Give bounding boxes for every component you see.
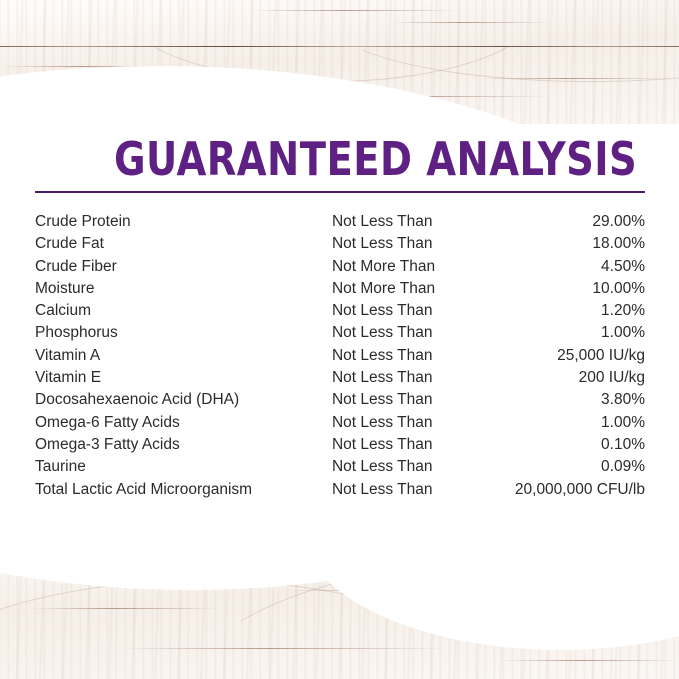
nutrient-qualifier: Not Less Than — [332, 367, 493, 389]
nutrient-value: 0.09% — [492, 456, 645, 478]
nutrient-qualifier: Not Less Than — [332, 389, 493, 411]
nutrient-name: Vitamin E — [35, 367, 332, 389]
nutrient-value: 10.00% — [492, 278, 645, 300]
nutrient-qualifier: Not Less Than — [332, 233, 493, 255]
nutrient-qualifier: Not Less Than — [332, 434, 493, 456]
table-row: Total Lactic Acid Microorganism Not Less… — [35, 479, 645, 501]
page-title: GUARANTEED ANALYSIS — [114, 134, 637, 184]
nutrient-value: 200 IU/kg — [492, 367, 645, 389]
title-divider-rule — [35, 191, 645, 193]
table-row: Crude Protein Not Less Than 29.00% — [35, 211, 645, 233]
nutrient-qualifier: Not Less Than — [332, 479, 493, 501]
nutrient-name: Total Lactic Acid Microorganism — [35, 479, 332, 501]
nutrient-qualifier: Not Less Than — [332, 345, 493, 367]
nutrient-value: 0.10% — [492, 434, 645, 456]
nutrient-qualifier: Not Less Than — [332, 412, 493, 434]
nutrient-qualifier: Not Less Than — [332, 456, 493, 478]
analysis-table-body: Crude Protein Not Less Than 29.00% Crude… — [35, 211, 645, 501]
nutrient-name: Taurine — [35, 456, 332, 478]
nutrient-value: 20,000,000 CFU/lb — [492, 479, 645, 501]
nutrient-value: 4.50% — [492, 256, 645, 278]
nutrient-value: 1.00% — [492, 322, 645, 344]
nutrient-qualifier: Not Less Than — [332, 211, 493, 233]
nutrient-qualifier: Not More Than — [332, 278, 493, 300]
nutrient-qualifier: Not Less Than — [332, 300, 493, 322]
nutrient-name: Crude Fiber — [35, 256, 332, 278]
nutrient-name: Vitamin A — [35, 345, 332, 367]
nutrient-qualifier: Not Less Than — [332, 322, 493, 344]
table-row: Vitamin E Not Less Than 200 IU/kg — [35, 367, 645, 389]
table-row: Moisture Not More Than 10.00% — [35, 278, 645, 300]
guaranteed-analysis-table: Crude Protein Not Less Than 29.00% Crude… — [35, 211, 645, 501]
nutrient-value: 1.00% — [492, 412, 645, 434]
nutrient-value: 18.00% — [492, 233, 645, 255]
nutrient-name: Calcium — [35, 300, 332, 322]
nutrient-name: Phosphorus — [35, 322, 332, 344]
nutrient-value: 29.00% — [492, 211, 645, 233]
table-row: Taurine Not Less Than 0.09% — [35, 456, 645, 478]
nutrient-value: 25,000 IU/kg — [492, 345, 645, 367]
nutrient-value: 3.80% — [492, 389, 645, 411]
analysis-content: GUARANTEED ANALYSIS Crude Protein Not Le… — [0, 0, 679, 679]
table-row: Omega-6 Fatty Acids Not Less Than 1.00% — [35, 412, 645, 434]
nutrient-name: Moisture — [35, 278, 332, 300]
nutrient-name: Crude Protein — [35, 211, 332, 233]
table-row: Omega-3 Fatty Acids Not Less Than 0.10% — [35, 434, 645, 456]
nutrient-qualifier: Not More Than — [332, 256, 493, 278]
nutrient-value: 1.20% — [492, 300, 645, 322]
table-row: Docosahexaenoic Acid (DHA) Not Less Than… — [35, 389, 645, 411]
nutrient-name: Omega-3 Fatty Acids — [35, 434, 332, 456]
table-row: Crude Fiber Not More Than 4.50% — [35, 256, 645, 278]
guaranteed-analysis-panel: GUARANTEED ANALYSIS Crude Protein Not Le… — [0, 0, 679, 679]
nutrient-name: Docosahexaenoic Acid (DHA) — [35, 389, 332, 411]
nutrient-name: Omega-6 Fatty Acids — [35, 412, 332, 434]
nutrient-name: Crude Fat — [35, 233, 332, 255]
table-row: Crude Fat Not Less Than 18.00% — [35, 233, 645, 255]
table-row: Calcium Not Less Than 1.20% — [35, 300, 645, 322]
table-row: Vitamin A Not Less Than 25,000 IU/kg — [35, 345, 645, 367]
table-row: Phosphorus Not Less Than 1.00% — [35, 322, 645, 344]
